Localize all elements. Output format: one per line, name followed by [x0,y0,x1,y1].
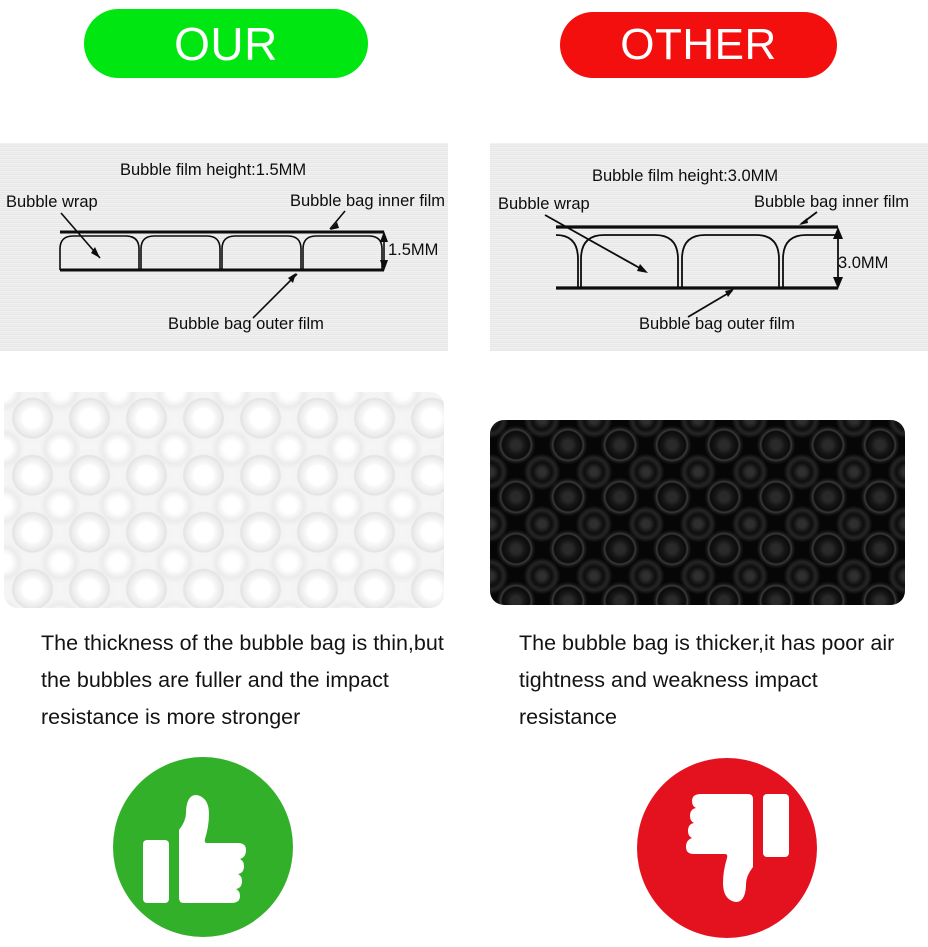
our-bubble-shapes [60,236,382,270]
other-dimension-label: 3.0MM [838,254,888,272]
thumbs-up-icon [139,786,267,908]
our-diagram-title: Bubble film height:1.5MM [120,161,306,179]
other-cross-section-diagram: Bubble film height:3.0MM Bubble wrap Bub… [490,143,928,351]
other-verdict-badge [637,758,817,938]
our-label-outer-film: Bubble bag outer film [168,315,324,333]
other-leader-inner-film [799,212,817,225]
white-bubble-wrap-photo [4,392,444,608]
our-cross-section-diagram: Bubble film height:1.5MM Bubble wrap Bub… [0,143,448,351]
other-diagram-title: Bubble film height:3.0MM [592,167,778,185]
our-verdict-badge [113,757,293,937]
other-label-inner-film: Bubble bag inner film [754,193,909,211]
other-leader-outer-film [688,289,734,317]
our-badge-label: OUR [174,17,278,71]
other-label-outer-film: Bubble bag outer film [639,315,795,333]
other-bubble-shapes [556,235,838,288]
other-badge-label: OTHER [620,20,777,70]
black-bubble-wrap-photo [490,420,905,605]
our-label-inner-film: Bubble bag inner film [290,192,445,210]
our-label-bubble-wrap: Bubble wrap [6,193,98,211]
thumbs-down-icon [661,785,793,911]
our-leader-outer-film [253,273,297,318]
other-leader-bubble-wrap [545,215,648,273]
other-badge: OTHER [560,12,837,78]
our-badge: OUR [84,9,368,78]
other-label-bubble-wrap: Bubble wrap [498,195,590,213]
our-caption: The thickness of the bubble bag is thin,… [41,625,445,736]
our-leader-inner-film [330,211,345,230]
our-dimension-label: 1.5MM [388,241,438,259]
other-caption: The bubble bag is thicker,it has poor ai… [519,625,919,736]
